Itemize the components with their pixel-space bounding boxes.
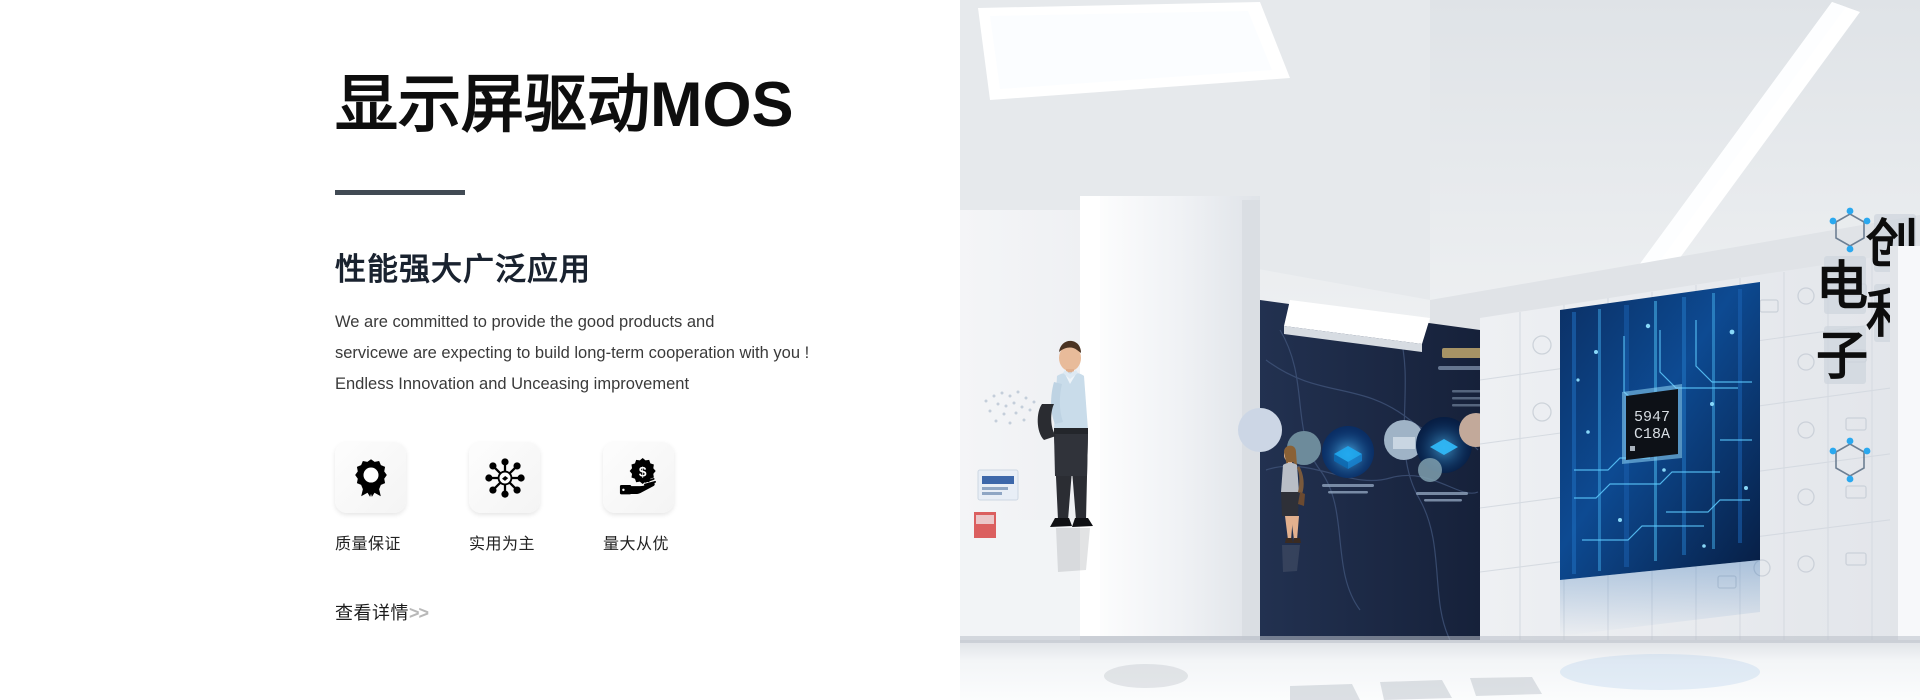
description-line-2: servicewe are expecting to build long-te… bbox=[335, 338, 915, 369]
description-line-3: Endless Innovation and Unceasing improve… bbox=[335, 369, 915, 400]
subtitle: 性能强大广泛应用 bbox=[335, 244, 915, 289]
feature-icon-tile bbox=[335, 442, 406, 513]
feature-item-practical[interactable]: 实用为主 bbox=[469, 442, 547, 554]
hero-banner: 显示屏驱动MOS 性能强大广泛应用 We are committed to pr… bbox=[0, 0, 1920, 700]
feature-label: 实用为主 bbox=[469, 530, 547, 554]
svg-text:$: $ bbox=[638, 464, 646, 479]
chevron-right-icon: >> bbox=[409, 603, 428, 623]
view-details-label: 查看详情 bbox=[335, 603, 409, 623]
network-hub-icon bbox=[484, 457, 526, 499]
feature-icon-tile bbox=[469, 442, 540, 513]
description-line-1: We are committed to provide the good pro… bbox=[335, 307, 915, 338]
page-title: 显示屏驱动MOS bbox=[335, 72, 915, 138]
feature-icon-tile: $ bbox=[603, 442, 674, 513]
feature-item-volume-discount[interactable]: $ 量大从优 bbox=[603, 442, 681, 554]
banner-content: 显示屏驱动MOS 性能强大广泛应用 We are committed to pr… bbox=[335, 0, 915, 625]
feature-label: 质量保证 bbox=[335, 530, 413, 554]
banner-text-panel: 显示屏驱动MOS 性能强大广泛应用 We are committed to pr… bbox=[0, 0, 960, 700]
hand-money-icon: $ bbox=[617, 456, 661, 500]
showroom-interior-photo: 5947 C18A bbox=[960, 0, 1920, 700]
title-divider bbox=[335, 190, 465, 195]
feature-list: 质量保证 bbox=[335, 442, 915, 554]
feature-label: 量大从优 bbox=[603, 530, 681, 554]
feature-item-quality[interactable]: 质量保证 bbox=[335, 442, 413, 554]
view-details-link[interactable]: 查看详情>> bbox=[335, 599, 428, 625]
award-ribbon-icon bbox=[350, 457, 392, 499]
description-paragraph: We are committed to provide the good pro… bbox=[335, 307, 915, 400]
